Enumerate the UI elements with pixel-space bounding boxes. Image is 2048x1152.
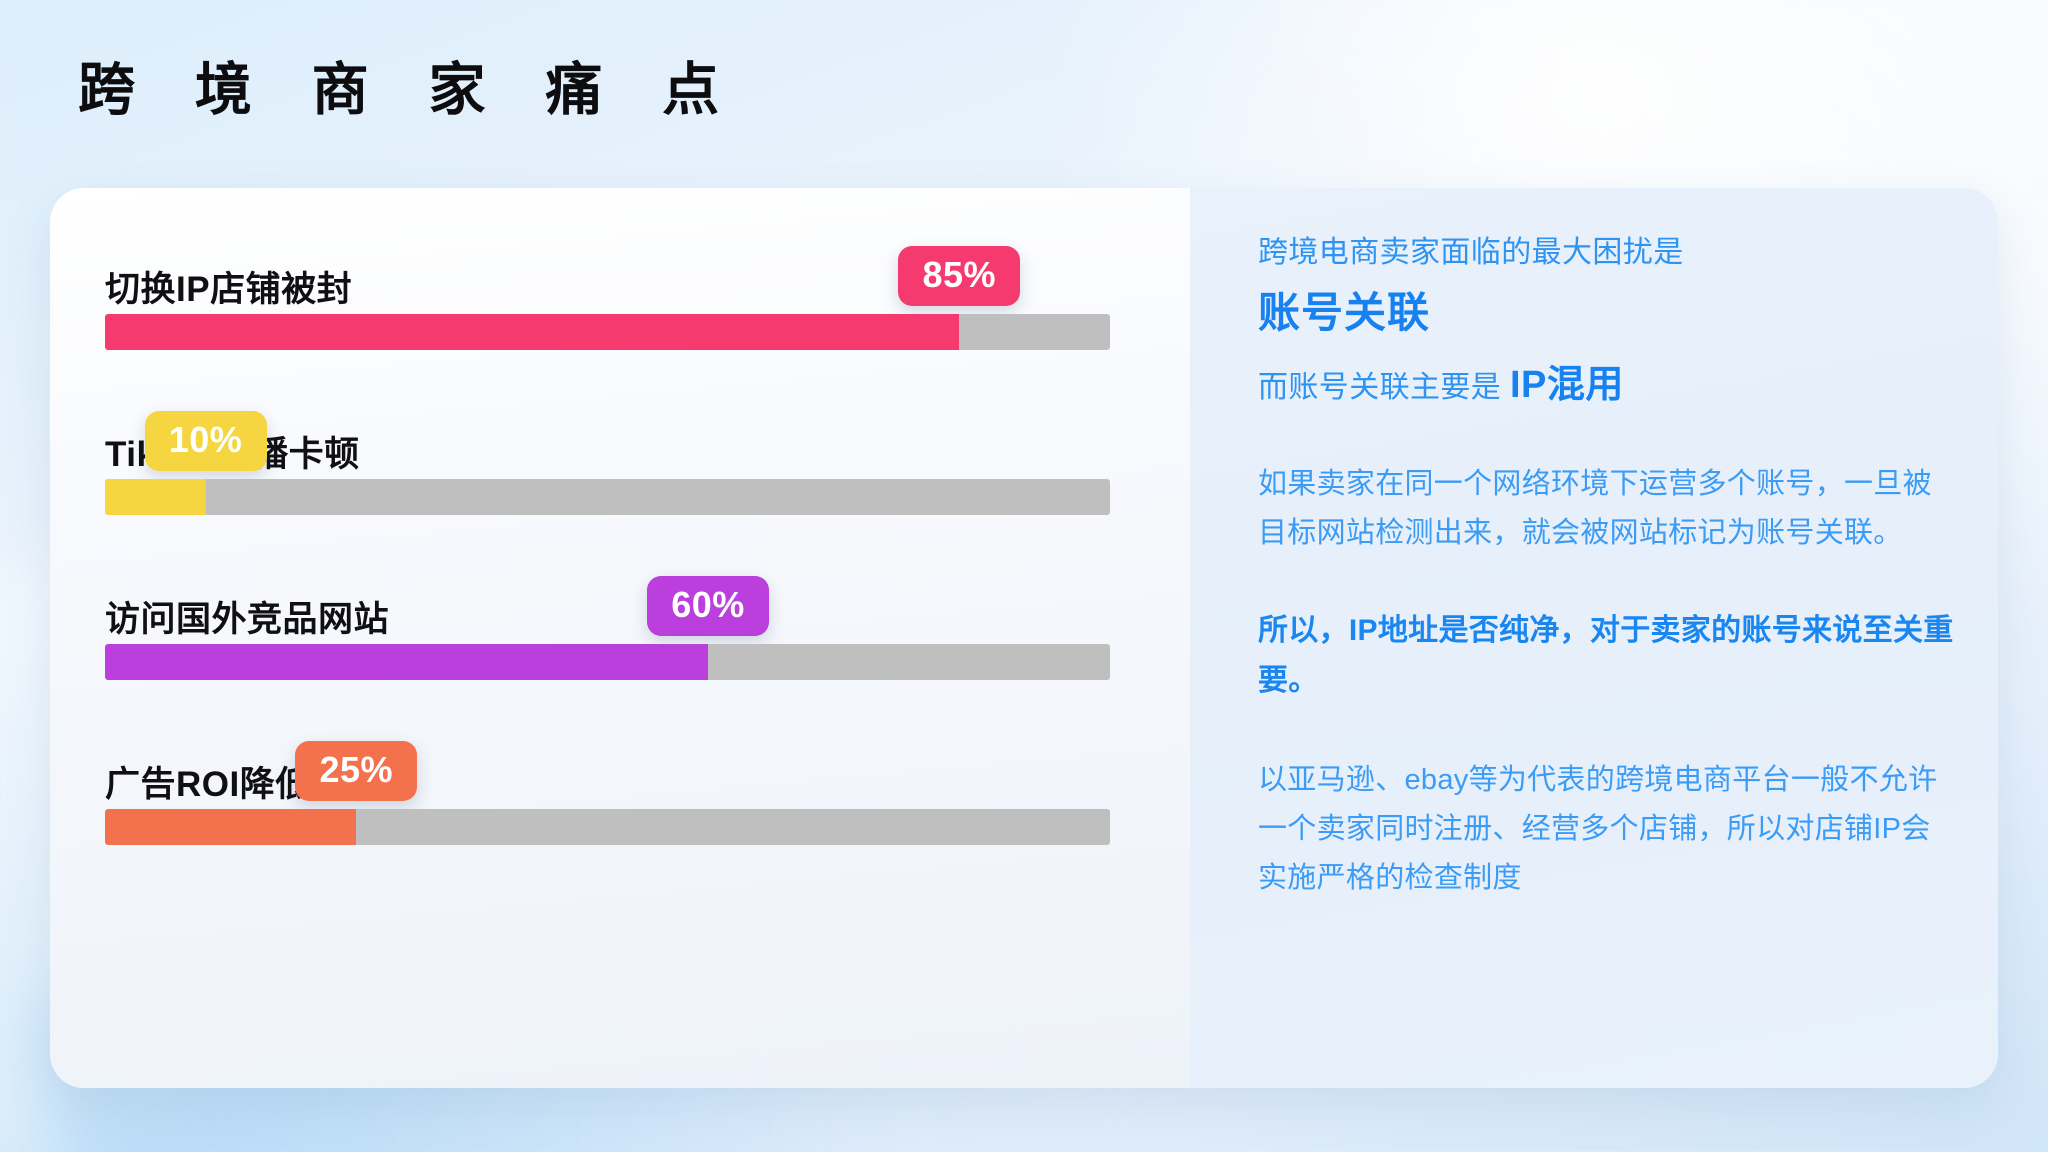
bar-track [105,809,1110,845]
copy-lead: 跨境电商卖家面临的最大困扰是 [1258,230,1954,277]
bar-fill [105,479,206,515]
copy-hero-keyword: 账号关联 [1258,283,1954,344]
copy-inline-keyword: IP混用 [1510,364,1624,406]
bar-row-header: 切换IP店铺被封85% [105,228,1110,314]
bar-chart: 切换IP店铺被封85%TikTok直播卡顿10%访问国外竞品网站60%广告ROI… [105,228,1110,845]
bar-value-badge: 85% [898,246,1020,306]
bar-row: TikTok直播卡顿10% [105,393,1110,515]
copy-panel: 跨境电商卖家面临的最大困扰是 账号关联 而账号关联主要是 IP混用 如果卖家在同… [1190,188,1998,1088]
page-title: 跨 境 商 家 痛 点 [78,58,741,124]
bar-value-badge: 10% [145,411,267,471]
bar-value-badge: 25% [295,741,417,801]
bar-row: 访问国外竞品网站60% [105,558,1110,680]
bar-label: 访问国外竞品网站 [105,591,389,642]
bar-track [105,314,1110,350]
bar-row-header: 访问国外竞品网站60% [105,558,1110,644]
copy-inline-line: 而账号关联主要是 IP混用 [1258,355,1954,416]
bar-track [105,644,1110,680]
copy-paragraph-1: 如果卖家在同一个网络环境下运营多个账号，一旦被目标网站检测出来，就会被网站标记为… [1258,460,1954,557]
bar-track [105,479,1110,515]
bar-label: 切换IP店铺被封 [105,261,352,312]
copy-block: 跨境电商卖家面临的最大困扰是 账号关联 而账号关联主要是 IP混用 如果卖家在同… [1258,230,1954,903]
bar-row-header: TikTok直播卡顿10% [105,393,1110,479]
bar-label: 广告ROI降低 [105,756,311,807]
bar-row: 广告ROI降低25% [105,723,1110,845]
chart-panel: 切换IP店铺被封85%TikTok直播卡顿10%访问国外竞品网站60%广告ROI… [50,188,1190,1088]
copy-paragraph-3: 以亚马逊、ebay等为代表的跨境电商平台一般不允许一个卖家同时注册、经营多个店铺… [1258,756,1954,902]
bar-value-badge: 60% [647,576,769,636]
bar-row-header: 广告ROI降低25% [105,723,1110,809]
copy-inline-prefix: 而账号关联主要是 [1258,371,1510,404]
bar-row: 切换IP店铺被封85% [105,228,1110,350]
bar-fill [105,809,356,845]
bar-fill [105,644,708,680]
content-card: 切换IP店铺被封85%TikTok直播卡顿10%访问国外竞品网站60%广告ROI… [50,188,1998,1088]
bar-fill [105,314,959,350]
copy-paragraph-2: 所以，IP地址是否纯净，对于卖家的账号来说至关重要。 [1258,606,1954,707]
